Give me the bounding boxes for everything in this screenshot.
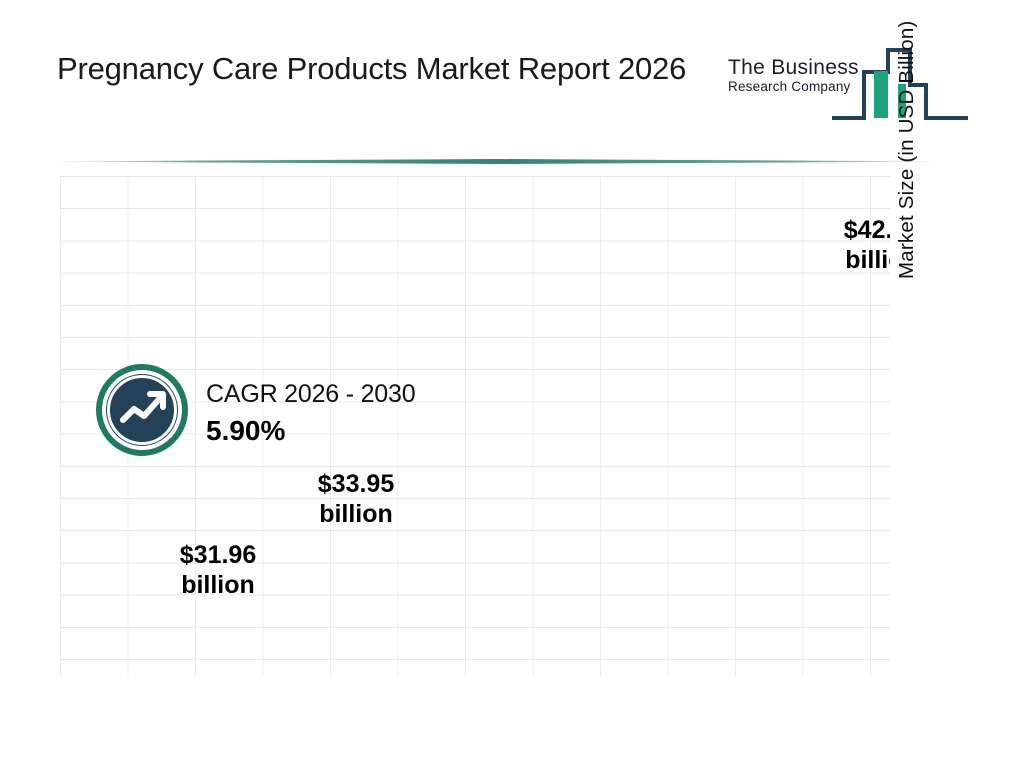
trending-up-icon [96,364,188,456]
bar-label-2026: $33.95billion [286,469,426,529]
cagr-text-block: CAGR 2026 - 2030 5.90% [206,376,415,450]
company-logo: The Business Research Company [724,38,974,126]
page-title: Pregnancy Care Products Market Report 20… [57,46,707,92]
header: Pregnancy Care Products Market Report 20… [0,0,1024,150]
bar-label-2030: $42.72billion [812,215,890,275]
bar-chart: $31.96billion$33.95billion$42.72billion … [0,164,1024,768]
cagr-period-label: CAGR 2026 - 2030 [206,376,415,412]
y-axis-title: Market Size (in USD Billion) [895,0,919,279]
cagr-value: 5.90% [206,412,415,450]
bar-label-2025: $31.96billion [148,540,288,600]
